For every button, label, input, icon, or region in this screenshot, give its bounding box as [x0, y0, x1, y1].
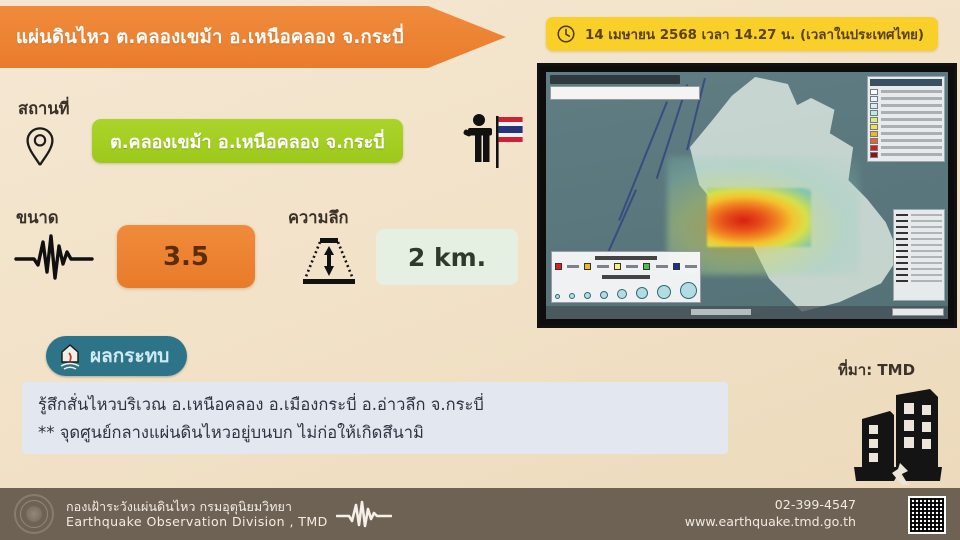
footer-url[interactable]: www.earthquake.tmd.go.th: [685, 514, 856, 529]
depth-arrow-icon: [300, 236, 358, 286]
cracked-buildings-icon: [850, 385, 946, 485]
legend-row: [870, 130, 942, 137]
place-badge: ต.คลองเขม้า อ.เหนือคลอง จ.กระบี่: [92, 119, 403, 163]
footer-bar: กองเฝ้าระวังแผ่นดินไหว กรมอุตุนิยมวิทยา …: [0, 488, 960, 540]
page-title: แผ่นดินไหว ต.คลองเขม้า อ.เหนือคลอง จ.กระ…: [16, 23, 404, 52]
legend-row: [870, 151, 942, 158]
shakemap-canvas: [546, 72, 948, 319]
impact-line: รู้สึกสั่นไหวบริเวณ อ.เหนือคลอง อ.เมืองก…: [38, 391, 712, 419]
depth-value: 2 km.: [408, 243, 486, 272]
map-search-input[interactable]: [550, 86, 700, 100]
map-legend-magnitude-title: [602, 275, 650, 279]
source-label: ที่มา: TMD: [838, 358, 915, 382]
shakemap-image: [537, 63, 957, 328]
legend-row: [896, 278, 942, 284]
seismograph-wave-icon: [336, 500, 392, 528]
thai-flag-icon: [462, 108, 524, 170]
place-value: ต.คลองเขม้า อ.เหนือคลอง จ.กระบี่: [110, 127, 385, 156]
map-legend-pga: [867, 76, 945, 162]
magnitude-label: ขนาด: [16, 205, 59, 231]
datetime-chip: 14 เมษายน 2568 เวลา 14.27 น. (เวลาในประเ…: [546, 17, 938, 51]
map-window-titlebar: [550, 75, 680, 84]
impact-panel: รู้สึกสั่นไหวบริเวณ อ.เหนือคลอง อ.เมืองก…: [22, 382, 728, 454]
legend-row: [870, 109, 942, 116]
place-label: สถานที่: [18, 96, 69, 122]
map-legend-depth-title: [595, 256, 657, 260]
legend-magnitude-circles: [555, 282, 697, 299]
tmd-seal-icon: [14, 494, 54, 534]
legend-depth-swatches: [555, 263, 697, 270]
depth-label: ความลึก: [288, 205, 349, 231]
map-pin-icon: [22, 126, 58, 168]
legend-row: [870, 123, 942, 130]
legend-row: [870, 116, 942, 123]
map-legend-pga-title: [870, 79, 942, 86]
map-legend-depth-scale: [893, 209, 945, 301]
impact-badge: ผลกระทบ: [46, 336, 187, 376]
header-banner: แผ่นดินไหว ต.คลองเขม้า อ.เหนือคลอง จ.กระ…: [0, 6, 506, 68]
map-legend-depth-magnitude: [551, 251, 701, 303]
legend-row: [870, 88, 942, 95]
impact-badge-label: ผลกระทบ: [90, 341, 169, 371]
footer-org-en: Earthquake Observation Division , TMD: [66, 514, 328, 529]
legend-row: [870, 144, 942, 151]
map-statusbar: [546, 306, 948, 319]
earthquake-report-poster: แผ่นดินไหว ต.คลองเขม้า อ.เหนือคลอง จ.กระ…: [0, 0, 960, 540]
depth-box: 2 km.: [376, 229, 518, 285]
footer-phone[interactable]: 02-399-4547: [775, 497, 856, 512]
map-epicenter-hotspot: [707, 188, 812, 247]
seismograph-wave-icon: [14, 232, 94, 282]
magnitude-value: 3.5: [163, 242, 209, 272]
legend-row: [870, 102, 942, 109]
magnitude-box: 3.5: [117, 225, 255, 288]
shaking-house-icon: [58, 342, 82, 370]
clock-icon: [556, 24, 576, 44]
datetime-text: 14 เมษายน 2568 เวลา 14.27 น. (เวลาในประเ…: [585, 24, 924, 45]
qr-code-icon[interactable]: [908, 496, 946, 534]
legend-row: [870, 137, 942, 144]
legend-row: [870, 95, 942, 102]
impact-line: ** จุดศูนย์กลางแผ่นดินไหวอยู่บนบก ไม่ก่อ…: [38, 419, 712, 447]
